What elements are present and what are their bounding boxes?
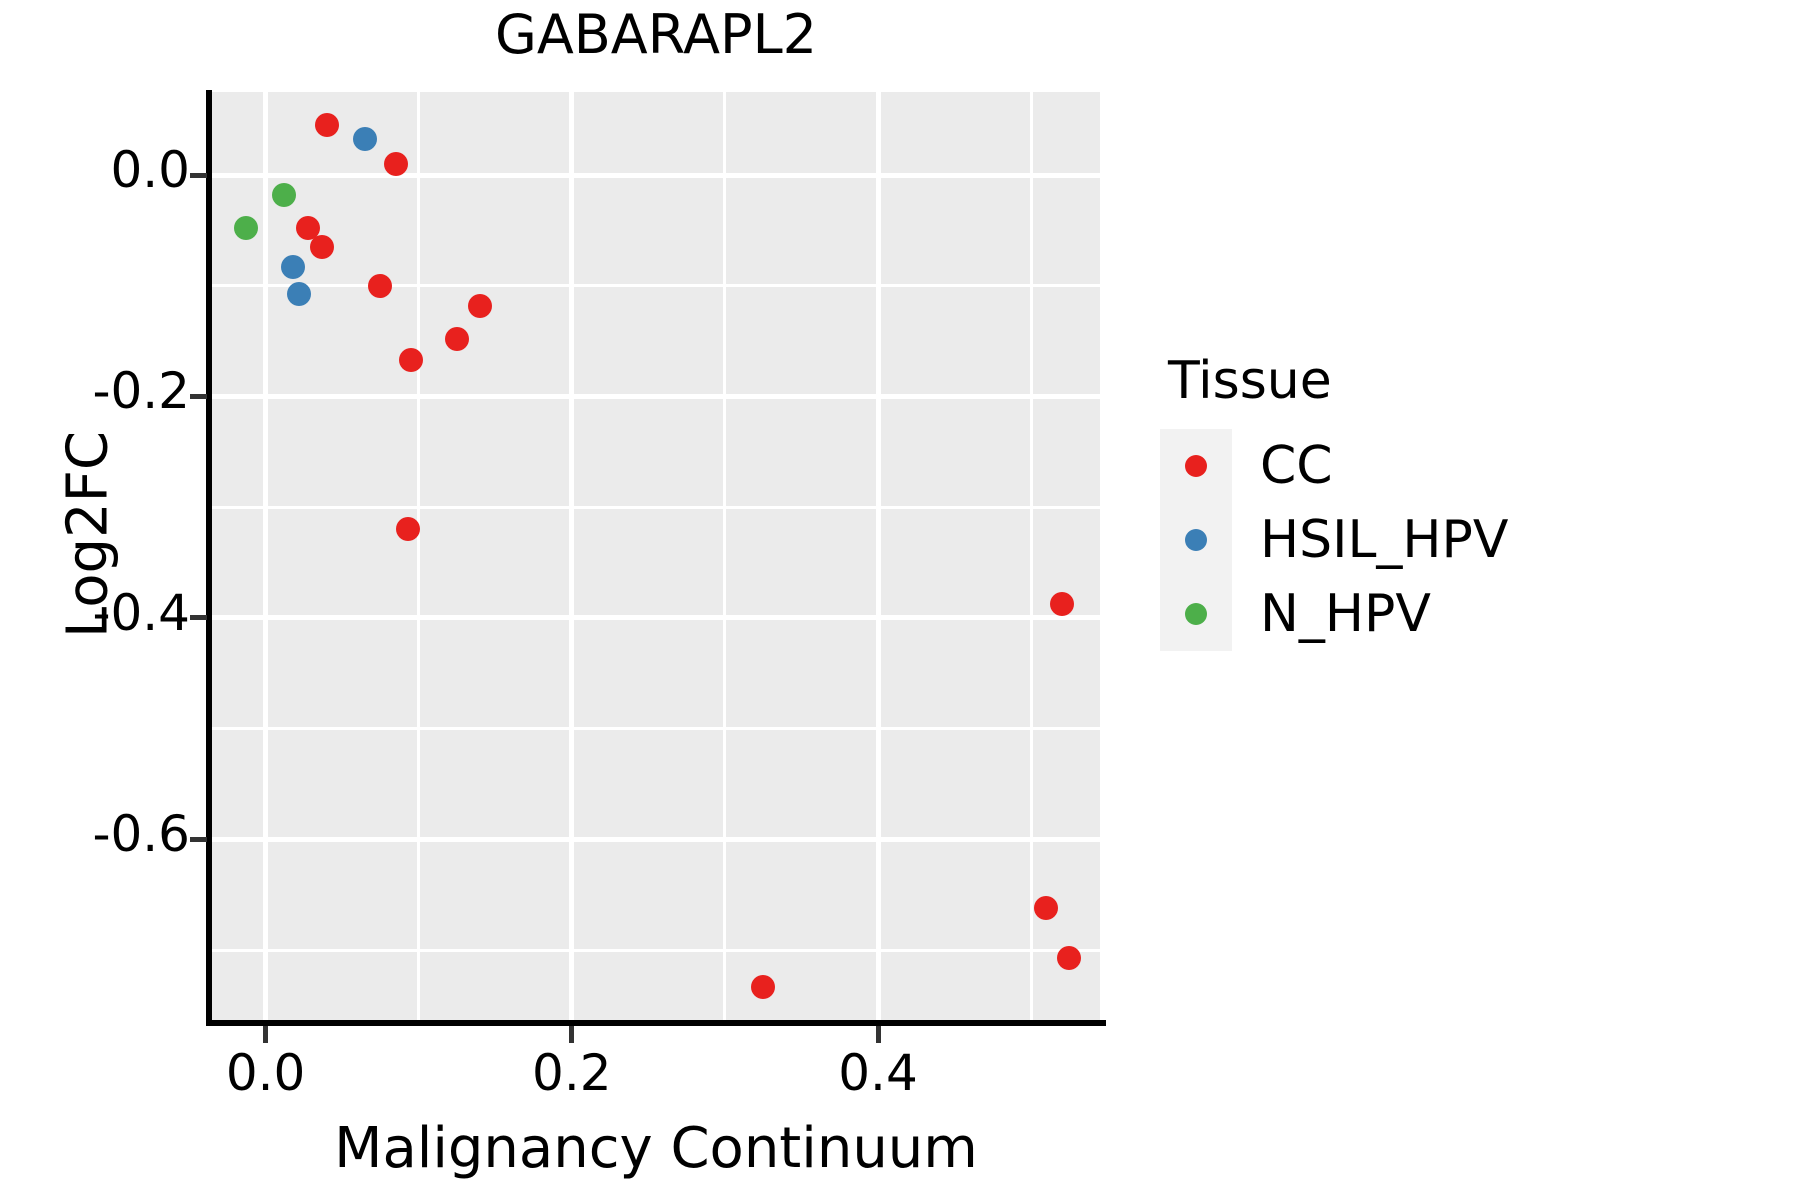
legend-key-swatch (1160, 577, 1232, 651)
gridline-major-horizontal (212, 615, 1100, 620)
gridline-minor-vertical (1030, 92, 1033, 1022)
legend-item-label: HSIL_HPV (1260, 514, 1508, 566)
legend-item-label: CC (1260, 440, 1333, 492)
data-point-hsil_hpv (287, 282, 311, 306)
x-axis-label: Malignancy Continuum (212, 1116, 1100, 1181)
legend-dot-icon (1185, 455, 1207, 477)
y-axis-line (206, 90, 212, 1026)
gridline-minor-horizontal (212, 949, 1100, 952)
legend-title: Tissue (1168, 355, 1660, 407)
gridline-minor-horizontal (212, 506, 1100, 509)
y-tick-mark (190, 615, 207, 620)
y-axis-label: Log2FC (56, 335, 121, 735)
x-tick-mark (263, 1026, 268, 1043)
data-point-n_hpv (272, 183, 296, 207)
data-point-cc (751, 975, 775, 999)
data-point-cc (445, 327, 469, 351)
gridline-minor-horizontal (212, 727, 1100, 730)
data-point-cc (1057, 946, 1081, 970)
legend-item-hsil_hpv[interactable]: HSIL_HPV (1160, 503, 1660, 577)
y-tick-mark (190, 173, 207, 178)
data-point-cc (468, 294, 492, 318)
x-tick-label: 0.4 (778, 1048, 978, 1098)
y-tick-label: -0.6 (92, 809, 190, 859)
legend-dot-icon (1185, 603, 1207, 625)
gridline-major-vertical (569, 92, 574, 1022)
gridline-major-vertical (876, 92, 881, 1022)
gridline-major-vertical (263, 92, 268, 1022)
data-point-hsil_hpv (353, 127, 377, 151)
y-tick-mark (190, 394, 207, 399)
legend-items: CCHSIL_HPVN_HPV (1160, 429, 1660, 651)
x-tick-label: 0.2 (472, 1048, 672, 1098)
data-point-cc (368, 274, 392, 298)
data-point-cc (310, 235, 334, 259)
scatter-plot-figure: GABARAPL2 0.0-0.2-0.4-0.6 0.00.20.4 Mali… (0, 0, 1800, 1200)
legend: Tissue CCHSIL_HPVN_HPV (1160, 355, 1660, 651)
data-point-cc (315, 113, 339, 137)
data-point-cc (384, 152, 408, 176)
legend-key-swatch (1160, 429, 1232, 503)
y-tick-mark (190, 837, 207, 842)
data-point-cc (399, 348, 423, 372)
data-point-cc (1034, 896, 1058, 920)
gridline-major-horizontal (212, 837, 1100, 842)
x-tick-label: 0.0 (166, 1048, 366, 1098)
legend-key-swatch (1160, 503, 1232, 577)
legend-dot-icon (1185, 529, 1207, 551)
legend-item-n_hpv[interactable]: N_HPV (1160, 577, 1660, 651)
gridline-minor-vertical (417, 92, 420, 1022)
y-tick-label: 0.0 (110, 145, 190, 195)
page-title: GABARAPL2 (212, 8, 1100, 62)
plot-panel (212, 92, 1100, 1022)
x-axis-line (206, 1020, 1106, 1026)
data-point-hsil_hpv (281, 255, 305, 279)
x-tick-mark (876, 1026, 881, 1043)
legend-item-label: N_HPV (1260, 588, 1431, 640)
gridline-minor-vertical (723, 92, 726, 1022)
x-tick-mark (569, 1026, 574, 1043)
legend-item-cc[interactable]: CC (1160, 429, 1660, 503)
gridline-major-horizontal (212, 173, 1100, 178)
gridline-minor-horizontal (212, 284, 1100, 287)
data-point-cc (1050, 592, 1074, 616)
data-point-n_hpv (234, 216, 258, 240)
gridline-major-horizontal (212, 394, 1100, 399)
